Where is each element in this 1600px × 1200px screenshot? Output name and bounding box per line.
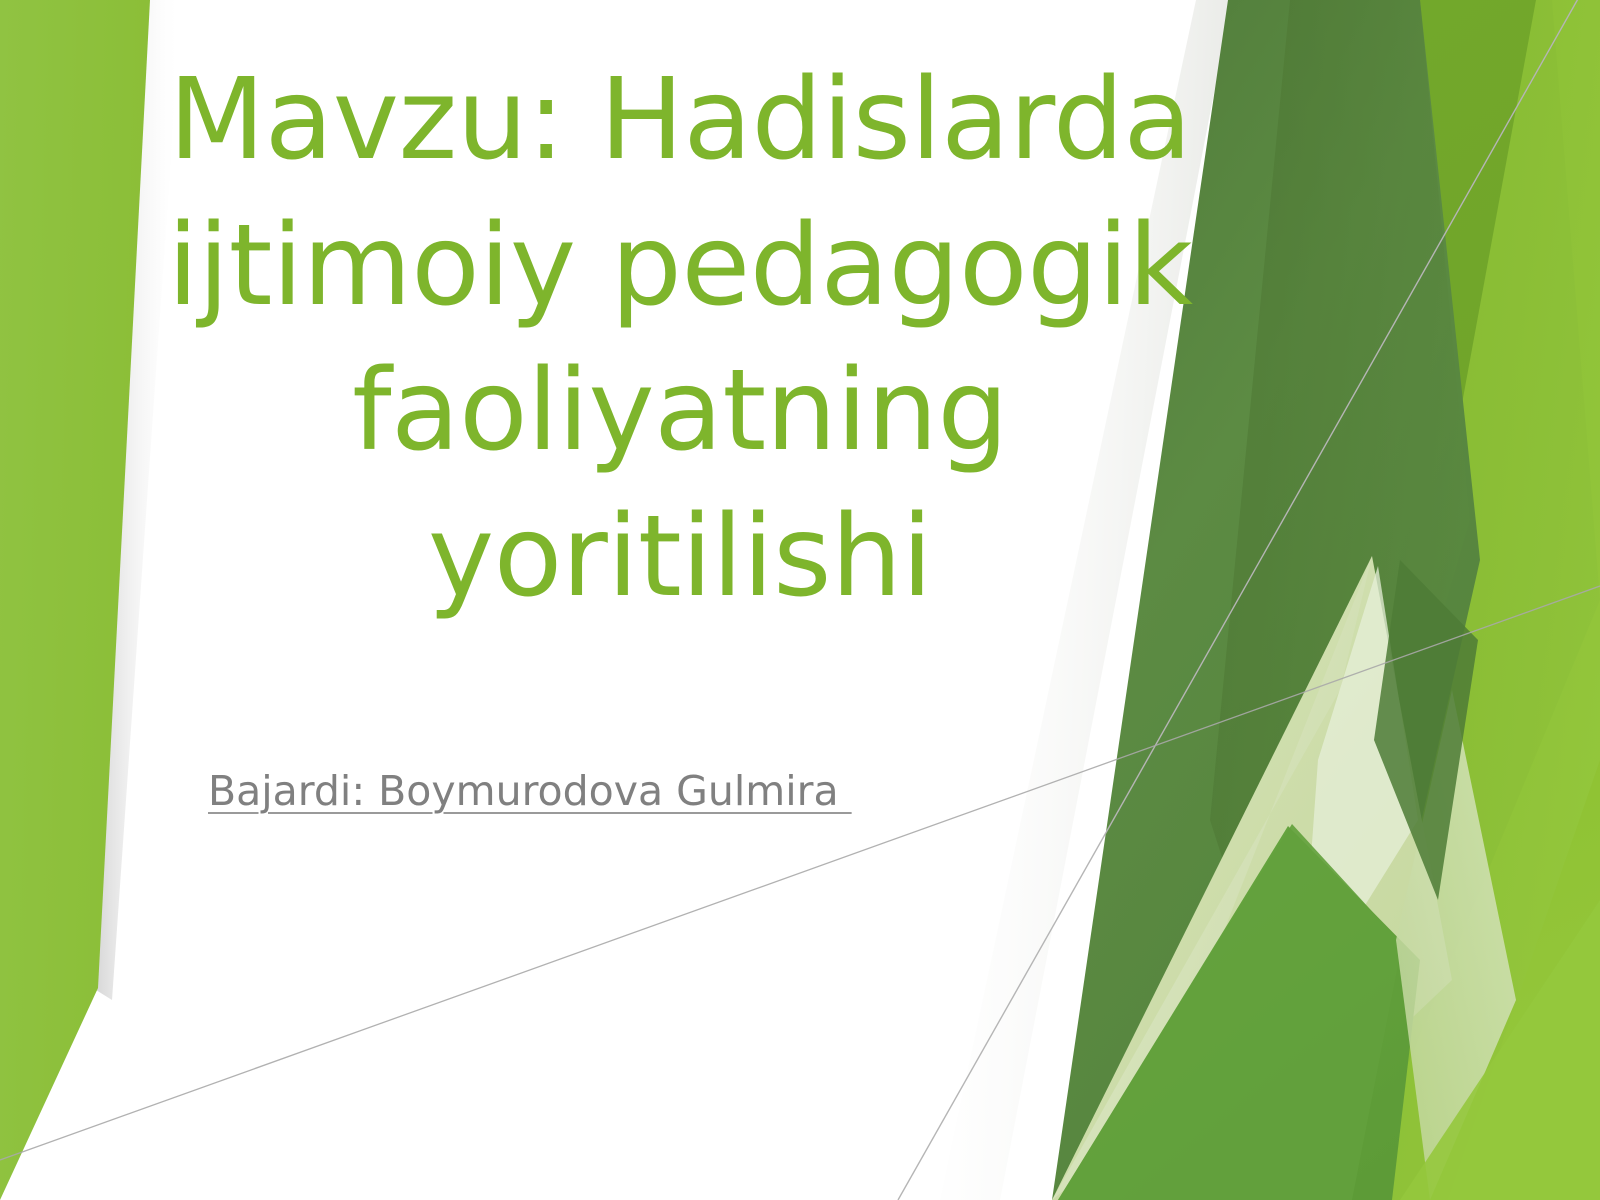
subtitle-placeholder[interactable]: Bajardi: Boymurodova Gulmira — [208, 766, 1108, 817]
title-placeholder[interactable]: Mavzu: Hadislarda ijtimoiy pedagogik fao… — [150, 48, 1210, 630]
presentation-slide: Mavzu: Hadislarda ijtimoiy pedagogik fao… — [0, 0, 1600, 1200]
slide-content: Mavzu: Hadislarda ijtimoiy pedagogik fao… — [0, 0, 1600, 1200]
page-title: Mavzu: Hadislarda ijtimoiy pedagogik fao… — [150, 48, 1210, 630]
slide-subtitle: Bajardi: Boymurodova Gulmira — [208, 766, 852, 817]
